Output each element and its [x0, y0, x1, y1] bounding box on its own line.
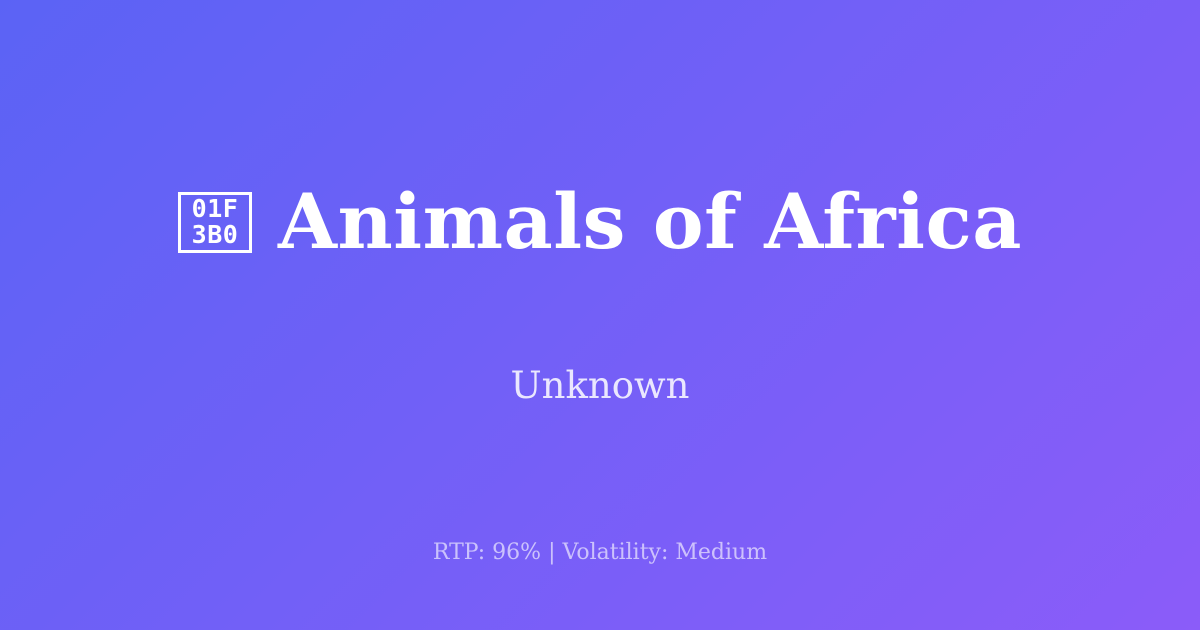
slot-machine-icon: 01F 3B0: [178, 192, 252, 253]
subtitle-provider: Unknown: [0, 362, 1200, 410]
title-block: 01F 3B0 Animals of Africa: [0, 0, 1200, 520]
title-stack: 01F 3B0 Animals of Africa: [178, 129, 1022, 315]
og-card: 01F 3B0 Animals of Africa Unknown RTP: 9…: [0, 0, 1200, 630]
title-line: 01F 3B0 Animals of Africa: [178, 129, 1022, 315]
tofu-codepoint-bottom: 3B0: [192, 222, 239, 248]
page-title: Animals of Africa: [278, 180, 1022, 264]
game-stats-line: RTP: 96% | Volatility: Medium: [0, 538, 1200, 568]
tofu-codepoint-top: 01F: [192, 196, 239, 222]
